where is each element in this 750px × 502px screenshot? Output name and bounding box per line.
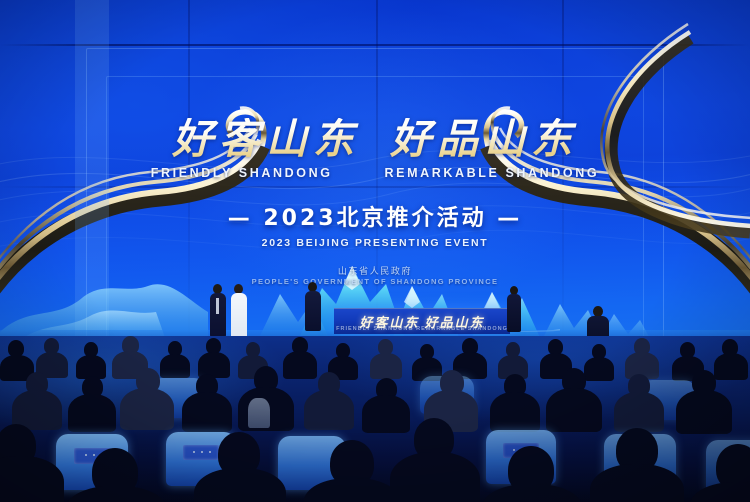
slogan-right-en: REMARKABLE SHANDONG xyxy=(385,166,600,180)
audience-shoulders xyxy=(182,392,232,432)
slogan-left-en: FRIENDLY SHANDONG xyxy=(151,166,333,180)
audience-shoulders xyxy=(283,351,317,379)
speaker-at-podium xyxy=(303,282,323,338)
chair-tag xyxy=(183,445,219,460)
event-title-en: 2023 BEIJING PRESENTING EVENT xyxy=(0,237,750,249)
audience-shoulders-front xyxy=(690,482,750,502)
audience-shoulders xyxy=(714,353,748,380)
audience-shoulders xyxy=(490,392,540,432)
led-backdrop-wall: 好客山东 好品山东 FRIENDLY SHANDONG REMARKABLE S… xyxy=(0,0,750,352)
event-title-cn: — 2023北京推介活动 — xyxy=(0,200,750,232)
slogan-right-cn: 好品山东 xyxy=(390,118,578,161)
attendee-standing-stage-right xyxy=(505,286,523,338)
podium-text-en: FRIENDLY SHANDONG REMARKABLE SHANDONG xyxy=(334,326,510,332)
audience-area xyxy=(0,336,750,502)
audience-shoulders xyxy=(160,354,190,378)
slogan-left-cn: 好客山东 xyxy=(172,118,360,161)
organizer-en: PEOPLE'S GOVERNMENT OF SHANDONG PROVINCE xyxy=(0,277,750,286)
audience-shoulders-front xyxy=(390,452,480,502)
audience-shoulders xyxy=(120,388,174,430)
audience-shoulders-front xyxy=(482,484,582,502)
audience-shoulders-front xyxy=(0,456,64,502)
organizer-cn: 山东省人民政府 xyxy=(0,264,750,277)
audience-shoulders xyxy=(304,390,354,430)
slogan-en-row: FRIENDLY SHANDONG REMARKABLE SHANDONG xyxy=(0,166,750,180)
audience-shoulders xyxy=(362,395,410,433)
audience-shoulders xyxy=(584,357,614,381)
audience-shoulders xyxy=(546,388,602,432)
audience-shoulders xyxy=(614,392,664,432)
backdrop-title-block: 好客山东 好品山东 FRIENDLY SHANDONG REMARKABLE S… xyxy=(0,118,750,249)
event-photo-scene: 好客山东 好品山东 FRIENDLY SHANDONG REMARKABLE S… xyxy=(0,0,750,502)
podium-led-sign: 好客山东 好品山东 FRIENDLY SHANDONG REMARKABLE S… xyxy=(334,308,510,334)
audience-shirt xyxy=(248,398,270,428)
audience-shoulders-front xyxy=(194,468,286,502)
audience-shoulders xyxy=(676,390,732,434)
audience-shoulders xyxy=(370,353,402,379)
slogan-cn-row: 好客山东 好品山东 xyxy=(0,118,750,161)
audience-shoulders xyxy=(68,394,116,432)
